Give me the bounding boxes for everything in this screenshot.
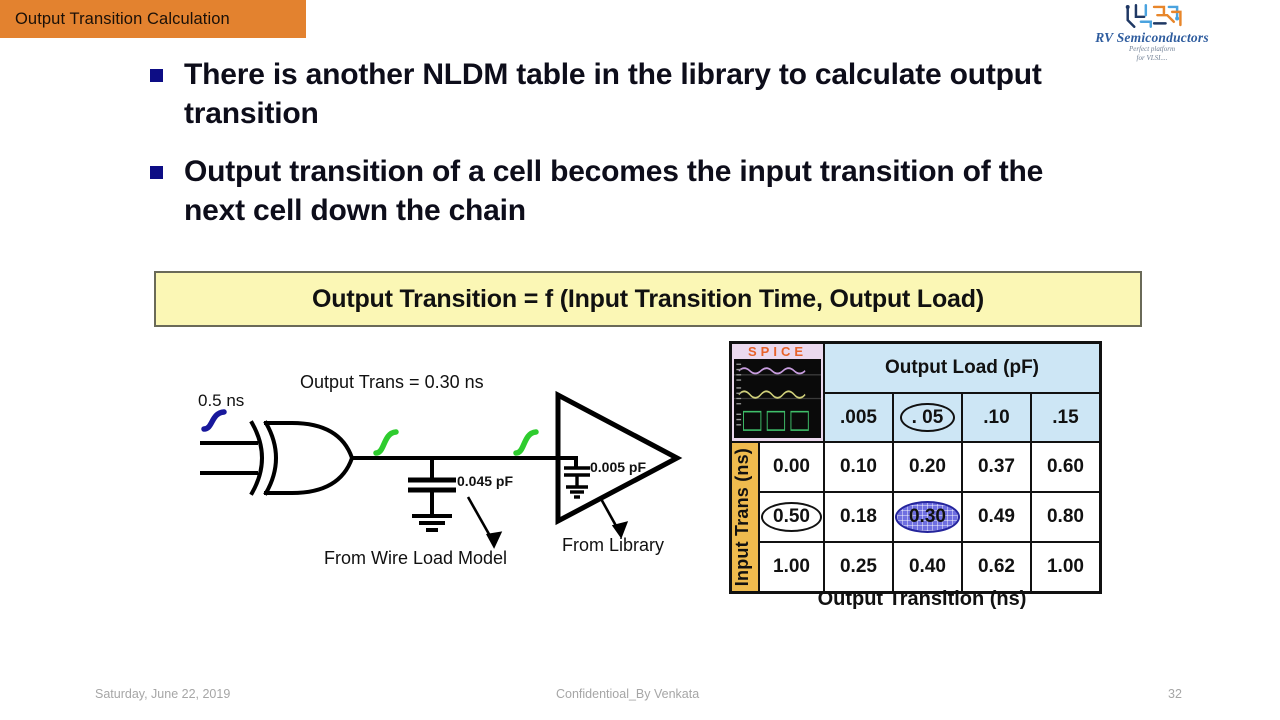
footer-page-number: 32 — [1168, 687, 1182, 701]
spice-label: SPICE — [732, 344, 823, 359]
slide-footer: Saturday, June 22, 2019 Confidentioal_By… — [0, 687, 1280, 707]
row-header-2: 1.00 — [759, 542, 824, 593]
wire-load-source-label: From Wire Load Model — [324, 548, 507, 569]
input-transition-label: 0.5 ns — [198, 391, 244, 411]
cell-0-2: 0.37 — [962, 442, 1031, 492]
nldm-output-transition-table: SPICE — [729, 341, 1102, 594]
cell-0-1: 0.20 — [893, 442, 962, 492]
cell-1-1-highlighted: 0.30 — [893, 492, 962, 542]
row-header-0: 0.00 — [759, 442, 824, 492]
bullet-text: There is another NLDM table in the libra… — [184, 56, 1050, 133]
input-transition-waveform — [204, 412, 224, 429]
circuit-diagram: 0.5 ns Output Trans = 0.30 ns 0.045 pF F… — [180, 385, 710, 585]
slide-title: Output Transition Calculation — [0, 10, 230, 29]
cell-2-1: 0.40 — [893, 542, 962, 593]
circuit-trace-logo-icon — [1103, 2, 1202, 30]
bullet-square-icon — [150, 166, 163, 179]
equation-text: Output Transition = f (Input Transition … — [312, 285, 984, 314]
output-transition-waveform-1 — [376, 432, 396, 453]
cell-2-2: 0.62 — [962, 542, 1031, 593]
cell-2-0: 0.25 — [824, 542, 893, 593]
wire-load-cap-label: 0.045 pF — [457, 473, 513, 489]
row-header-1: 0.50 — [759, 492, 824, 542]
bullet-text: Output transition of a cell becomes the … — [184, 153, 1050, 230]
output-transition-label: Output Trans = 0.30 ns — [300, 372, 484, 393]
cell-2-3: 1.00 — [1031, 542, 1101, 593]
table-row-group-header: SPICE — [731, 343, 1101, 394]
footer-date: Saturday, June 22, 2019 — [95, 687, 230, 701]
spice-thumbnail-cell: SPICE — [731, 343, 824, 443]
table-row: 0.50 0.18 0.30 0.49 0.80 — [731, 492, 1101, 542]
output-transition-waveform-2 — [516, 432, 536, 453]
logo-brand-text: RV Semiconductors — [1052, 31, 1252, 44]
table-row: 1.00 0.25 0.40 0.62 1.00 — [731, 542, 1101, 593]
bullet-item: There is another NLDM table in the libra… — [150, 56, 1050, 133]
bullet-list: There is another NLDM table in the libra… — [150, 56, 1050, 251]
spice-scope-icon — [734, 359, 821, 438]
cell-0-3: 0.60 — [1031, 442, 1101, 492]
col-header-2: .10 — [962, 393, 1031, 442]
input-trans-axis-text: Input Trans (ns) — [732, 448, 753, 586]
bullet-square-icon — [150, 69, 163, 82]
library-cap-label: 0.005 pF — [590, 459, 646, 475]
highlighted-column-marker: . 05 — [900, 403, 956, 433]
output-load-header: Output Load (pF) — [824, 343, 1101, 394]
result-highlight-marker: 0.30 — [895, 501, 960, 533]
table-caption: Output Transition (ns) — [729, 588, 1115, 611]
cell-1-2: 0.49 — [962, 492, 1031, 542]
cell-1-3: 0.80 — [1031, 492, 1101, 542]
logo-tagline-2: for VLSI.... — [1052, 54, 1252, 62]
footer-confidential-note: Confidentioal_By Venkata — [556, 687, 699, 701]
col-header-0: .005 — [824, 393, 893, 442]
table-row: Input Trans (ns) 0.00 0.10 0.20 0.37 0.6… — [731, 442, 1101, 492]
cell-1-0: 0.18 — [824, 492, 893, 542]
bullet-item: Output transition of a cell becomes the … — [150, 153, 1050, 230]
highlighted-row-marker: 0.50 — [761, 502, 822, 532]
input-trans-axis-label: Input Trans (ns) — [731, 442, 760, 593]
col-header-1: . 05 — [893, 393, 962, 442]
equation-callout-box: Output Transition = f (Input Transition … — [154, 271, 1142, 327]
spice-waveform-thumbnail: SPICE — [732, 344, 823, 441]
col-header-3: .15 — [1031, 393, 1101, 442]
slide-title-bar: Output Transition Calculation — [0, 0, 306, 38]
company-logo: RV Semiconductors Perfect platform for V… — [1052, 2, 1252, 64]
logo-tagline-1: Perfect platform — [1052, 45, 1252, 53]
library-source-label: From Library — [562, 535, 664, 556]
cell-0-0: 0.10 — [824, 442, 893, 492]
